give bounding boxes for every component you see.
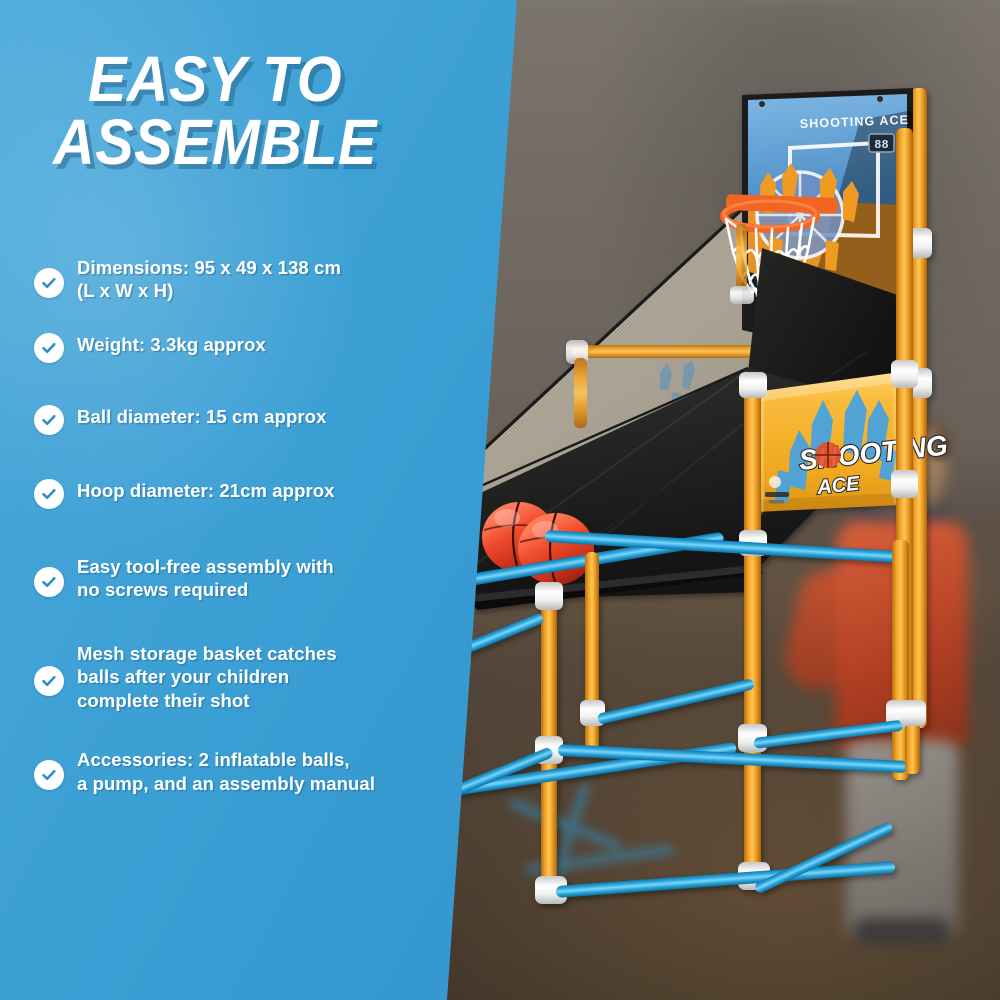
- list-item-text: Dimensions: 95 x 49 x 138 cm (L x W x H): [77, 256, 341, 303]
- page-title: EASY TO ASSEMBLE: [22, 48, 409, 173]
- list-item: Easy tool-free assembly with no screws r…: [34, 555, 434, 602]
- feature-line: Dimensions: 95 x 49 x 138 cm: [77, 257, 341, 278]
- feature-line: a pump, and an assembly manual: [77, 773, 375, 794]
- product-infographic: SHOOTING ACE 88: [0, 0, 1000, 1000]
- list-item-text: Ball diameter: 15 cm approx: [77, 405, 326, 428]
- feature-line: Easy tool-free assembly with: [77, 556, 334, 577]
- feature-line: (L x W x H): [77, 280, 173, 301]
- feature-line: balls after your children: [77, 666, 289, 687]
- check-circle-icon: [34, 333, 64, 363]
- feature-line: Hoop diameter: 21cm approx: [77, 480, 335, 501]
- list-item-text: Easy tool-free assembly with no screws r…: [77, 555, 334, 602]
- list-item: Dimensions: 95 x 49 x 138 cm (L x W x H): [34, 256, 434, 303]
- list-item-text: Weight: 3.3kg approx: [77, 333, 266, 356]
- list-item: Mesh storage basket catches balls after …: [34, 642, 434, 712]
- feature-list: Dimensions: 95 x 49 x 138 cm (L x W x H)…: [34, 256, 434, 825]
- check-circle-icon: [34, 405, 64, 435]
- banner-brand-bottom: ACE: [815, 473, 861, 499]
- list-item: Ball diameter: 15 cm approx: [34, 405, 434, 435]
- check-circle-icon: [34, 268, 64, 298]
- list-item-text: Hoop diameter: 21cm approx: [77, 479, 335, 502]
- title-line-1: EASY TO: [88, 43, 342, 115]
- check-circle-icon: [34, 666, 64, 696]
- list-item: Weight: 3.3kg approx: [34, 333, 434, 363]
- feature-line: Ball diameter: 15 cm approx: [77, 406, 326, 427]
- list-item: Accessories: 2 inflatable balls, a pump,…: [34, 748, 434, 795]
- feature-line: Accessories: 2 inflatable balls,: [77, 749, 350, 770]
- check-circle-icon: [34, 760, 64, 790]
- feature-line: no screws required: [77, 579, 248, 600]
- list-item-text: Accessories: 2 inflatable balls, a pump,…: [77, 748, 375, 795]
- scoreboard-display: 88: [869, 134, 894, 152]
- feature-line: Weight: 3.3kg approx: [77, 334, 266, 355]
- list-item: Hoop diameter: 21cm approx: [34, 479, 434, 509]
- feature-line: complete their shot: [77, 690, 250, 711]
- scoreboard-value: 88: [874, 138, 888, 152]
- list-item-text: Mesh storage basket catches balls after …: [77, 642, 337, 712]
- check-circle-icon: [34, 567, 64, 597]
- check-circle-icon: [34, 479, 64, 509]
- title-line-2: ASSEMBLE: [22, 111, 409, 174]
- feature-line: Mesh storage basket catches: [77, 643, 337, 664]
